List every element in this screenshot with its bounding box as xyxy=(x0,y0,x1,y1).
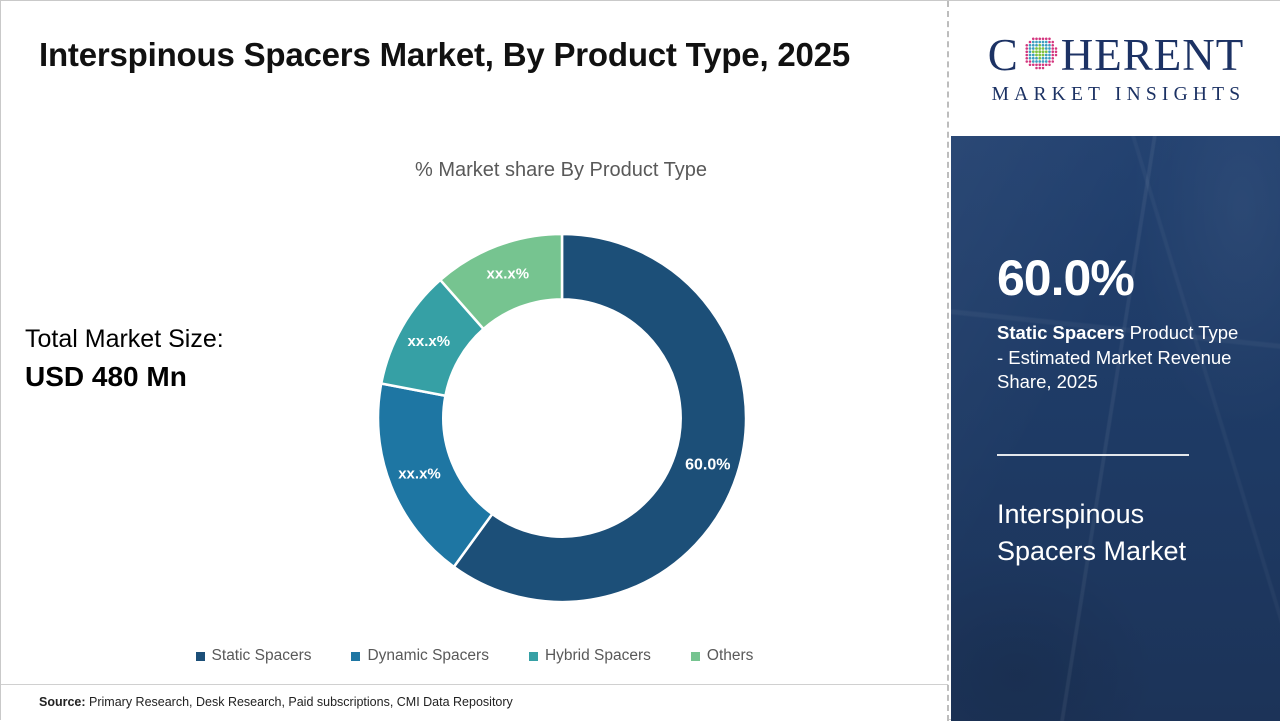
globe-dot xyxy=(1035,63,1038,66)
globe-dot xyxy=(1048,37,1051,40)
source-line: Source: Primary Research, Desk Research,… xyxy=(39,695,513,709)
globe-dot xyxy=(1045,63,1048,66)
infographic-root: Interspinous Spacers Market, By Product … xyxy=(0,0,1280,720)
donut-chart-svg: 60.0%xx.x%xx.x%xx.x% xyxy=(370,226,754,610)
globe-dot xyxy=(1028,40,1031,43)
globe-dot xyxy=(1051,56,1054,59)
chart-panel: Interspinous Spacers Market, By Product … xyxy=(1,1,948,721)
legend-label: Others xyxy=(707,647,754,665)
globe-dot xyxy=(1051,53,1054,56)
globe-dot xyxy=(1041,53,1044,56)
chart-legend: Static SpacersDynamic SpacersHybrid Spac… xyxy=(1,647,948,665)
globe-dot xyxy=(1045,56,1048,59)
donut-slice-label: xx.x% xyxy=(408,333,451,350)
globe-dot xyxy=(1048,40,1051,43)
globe-dot xyxy=(1035,40,1038,43)
legend-swatch-icon xyxy=(351,652,360,661)
globe-dot xyxy=(1035,53,1038,56)
donut-slice-label: 60.0% xyxy=(685,457,730,474)
legend-item[interactable]: Hybrid Spacers xyxy=(529,647,651,665)
globe-dot xyxy=(1051,47,1054,50)
legend-swatch-icon xyxy=(529,652,538,661)
globe-dot xyxy=(1035,56,1038,59)
globe-dot xyxy=(1038,43,1041,46)
globe-dot xyxy=(1041,56,1044,59)
globe-dot xyxy=(1025,50,1028,53)
globe-dot xyxy=(1041,50,1044,53)
globe-dot xyxy=(1038,60,1041,63)
logo-subtitle: MARKET INSIGHTS xyxy=(971,84,1261,106)
legend-item[interactable]: Static Spacers xyxy=(196,647,312,665)
total-market-size-block: Total Market Size: USD 480 Mn xyxy=(25,323,305,395)
globe-dot xyxy=(1038,37,1041,40)
globe-dot xyxy=(1035,47,1038,50)
stat-divider xyxy=(997,454,1189,456)
globe-dot xyxy=(1045,50,1048,53)
globe-dot xyxy=(1048,56,1051,59)
globe-dot xyxy=(1035,66,1038,69)
globe-dots-icon xyxy=(1020,32,1060,80)
globe-dot xyxy=(1045,40,1048,43)
total-market-size-value: USD 480 Mn xyxy=(25,359,305,395)
donut-slice-label: xx.x% xyxy=(487,266,530,283)
legend-label: Static Spacers xyxy=(212,647,312,665)
legend-label: Hybrid Spacers xyxy=(545,647,651,665)
globe-dot xyxy=(1041,60,1044,63)
legend-item[interactable]: Others xyxy=(691,647,754,665)
panel-background-texture xyxy=(951,136,1280,721)
globe-dot xyxy=(1025,60,1028,63)
globe-dot xyxy=(1051,40,1054,43)
globe-dot xyxy=(1038,63,1041,66)
globe-dot xyxy=(1032,60,1035,63)
legend-item[interactable]: Dynamic Spacers xyxy=(351,647,488,665)
globe-dot xyxy=(1038,66,1041,69)
donut-chart: 60.0%xx.x%xx.x%xx.x% xyxy=(370,226,754,610)
globe-dot xyxy=(1041,47,1044,50)
globe-dot xyxy=(1041,40,1044,43)
page-title: Interspinous Spacers Market, By Product … xyxy=(39,31,899,79)
logo-wordmark: C HERENT xyxy=(971,32,1261,80)
source-text: Primary Research, Desk Research, Paid su… xyxy=(86,695,513,709)
globe-dot xyxy=(1025,53,1028,56)
source-label: Source: xyxy=(39,695,86,709)
globe-dot xyxy=(1032,63,1035,66)
stat-description-bold: Static Spacers xyxy=(997,322,1125,343)
globe-dot xyxy=(1045,60,1048,63)
globe-dot xyxy=(1038,56,1041,59)
source-divider xyxy=(1,684,948,685)
globe-dot xyxy=(1048,50,1051,53)
globe-dot xyxy=(1045,53,1048,56)
total-market-size-label: Total Market Size: xyxy=(25,323,305,355)
donut-slice-label: xx.x% xyxy=(398,465,441,482)
globe-dot xyxy=(1028,50,1031,53)
globe-dot xyxy=(1035,43,1038,46)
globe-dot xyxy=(1032,40,1035,43)
globe-dot xyxy=(1032,47,1035,50)
globe-dot xyxy=(1038,53,1041,56)
globe-dot xyxy=(1054,50,1057,53)
globe-dot xyxy=(1038,40,1041,43)
panel-divider xyxy=(947,1,949,721)
globe-dot xyxy=(1041,37,1044,40)
globe-dot xyxy=(1048,47,1051,50)
globe-dot xyxy=(1028,60,1031,63)
globe-dot xyxy=(1025,43,1028,46)
globe-dot xyxy=(1048,43,1051,46)
globe-dot xyxy=(1035,50,1038,53)
legend-label: Dynamic Spacers xyxy=(367,647,488,665)
globe-dot xyxy=(1054,47,1057,50)
globe-dot xyxy=(1045,43,1048,46)
globe-dot xyxy=(1032,50,1035,53)
globe-dot xyxy=(1048,60,1051,63)
globe-dot xyxy=(1041,43,1044,46)
globe-dot xyxy=(1025,56,1028,59)
globe-dot xyxy=(1041,63,1044,66)
globe-dot xyxy=(1051,43,1054,46)
legend-swatch-icon xyxy=(691,652,700,661)
stat-market-name: Interspinous Spacers Market xyxy=(997,496,1247,570)
globe-dot xyxy=(1041,66,1044,69)
globe-dot xyxy=(1028,43,1031,46)
globe-dot xyxy=(1048,53,1051,56)
globe-dot xyxy=(1028,56,1031,59)
globe-dot xyxy=(1032,37,1035,40)
highlight-stat-panel: 60.0% Static Spacers Product Type - Esti… xyxy=(951,136,1280,721)
globe-dot xyxy=(1051,60,1054,63)
stat-description: Static Spacers Product Type - Estimated … xyxy=(997,321,1245,395)
globe-dot xyxy=(1032,56,1035,59)
globe-dot xyxy=(1028,47,1031,50)
chart-subtitle: % Market share By Product Type xyxy=(181,159,941,182)
globe-dot xyxy=(1028,63,1031,66)
globe-dot xyxy=(1028,53,1031,56)
logo-word-before: C xyxy=(988,33,1019,78)
globe-dot xyxy=(1032,43,1035,46)
globe-dot xyxy=(1048,63,1051,66)
stat-percentage: 60.0% xyxy=(997,253,1134,303)
globe-dot xyxy=(1038,50,1041,53)
globe-dot xyxy=(1035,60,1038,63)
globe-dot xyxy=(1032,53,1035,56)
globe-dot xyxy=(1045,47,1048,50)
globe-dot xyxy=(1054,53,1057,56)
globe-dot xyxy=(1045,37,1048,40)
globe-dot xyxy=(1035,37,1038,40)
logo-word-after: HERENT xyxy=(1061,33,1244,78)
globe-dot xyxy=(1025,47,1028,50)
globe-dot xyxy=(1051,50,1054,53)
legend-swatch-icon xyxy=(196,652,205,661)
company-logo: C HERENT MARKET INSIGHTS xyxy=(951,1,1280,136)
globe-dot xyxy=(1038,47,1041,50)
